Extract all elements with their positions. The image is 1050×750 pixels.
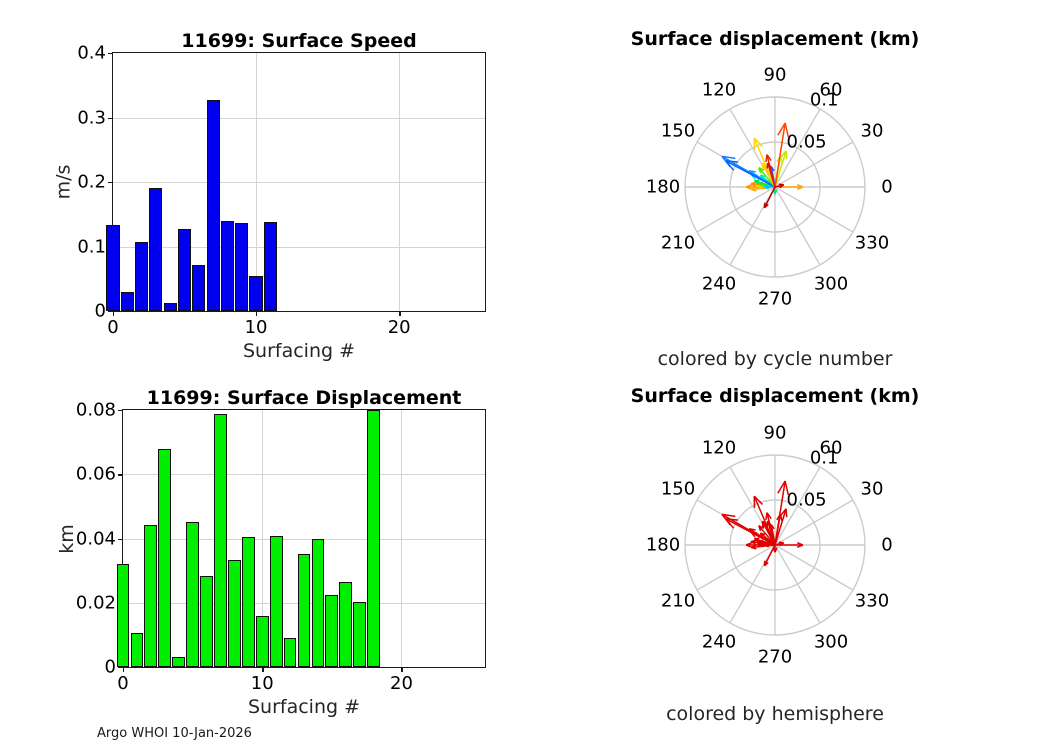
bar (121, 292, 134, 311)
gridline-horizontal (113, 182, 485, 183)
bar (149, 188, 162, 311)
bar (164, 303, 177, 311)
figure-footer-stamp: Argo WHOI 10-Jan-2026 (97, 726, 252, 741)
polar-radius-label: 0.1 (810, 90, 839, 111)
surface-displacement-plot-area: 00.020.040.060.0801020 (122, 409, 486, 668)
gridline-horizontal (123, 539, 485, 540)
bar (207, 100, 220, 311)
polar-cycle-caption: colored by cycle number (575, 348, 975, 370)
polar-hemisphere-title: Surface displacement (km) (575, 385, 975, 407)
surface-displacement-xlabel: Surfacing # (122, 696, 486, 718)
bar (235, 223, 248, 311)
surface-speed-ylabel: m/s (52, 165, 74, 200)
polar-radius-label: 0.05 (787, 131, 827, 152)
x-tick-label: 0 (107, 317, 118, 338)
bar (353, 602, 366, 667)
polar-radius-label: 0.1 (810, 448, 839, 469)
polar-angle-label: 90 (764, 423, 787, 444)
x-tick-mark (399, 311, 400, 316)
polar-angle-label: 0 (881, 535, 892, 556)
bar (312, 539, 325, 667)
polar-angle-label: 0 (881, 177, 892, 198)
x-tick-label: 0 (117, 673, 128, 694)
polar-angle-label: 90 (764, 65, 787, 86)
polar-angle-label: 270 (758, 647, 792, 668)
polar-angle-label: 180 (646, 535, 680, 556)
polar-angle-label: 180 (646, 177, 680, 198)
polar-spoke (775, 545, 820, 623)
y-tick-label: 0.3 (77, 107, 113, 128)
polar-angle-label: 330 (855, 233, 889, 254)
polar-cycle-plot-area: 03060901201501802102402703003300.050.1 (645, 62, 905, 312)
polar-hemisphere-plot-area: 03060901201501802102402703003300.050.1 (645, 420, 905, 670)
bar (172, 657, 185, 667)
bar (135, 242, 148, 311)
y-tick-label: 0.04 (76, 528, 123, 549)
bar (270, 536, 283, 667)
bar (158, 449, 171, 667)
bar (178, 229, 191, 311)
polar-angle-label: 30 (861, 121, 884, 142)
y-tick-label: 0.2 (77, 172, 113, 193)
bar (256, 616, 269, 667)
bar (214, 414, 227, 667)
x-tick-label: 20 (390, 673, 413, 694)
argo-float-diagnostic-figure: 11699: Surface Speed 00.10.20.30.401020 … (0, 0, 1050, 750)
x-tick-label: 10 (251, 673, 274, 694)
polar-grid-and-vectors (645, 62, 905, 312)
y-tick-label: 0.08 (76, 400, 123, 421)
x-tick-label: 20 (388, 317, 411, 338)
bar (117, 564, 130, 667)
bar (192, 265, 205, 311)
polar-angle-label: 150 (661, 121, 695, 142)
polar-angle-label: 240 (702, 273, 736, 294)
polar-angle-label: 240 (702, 631, 736, 652)
gridline-horizontal (113, 118, 485, 119)
polar-hemisphere-caption: colored by hemisphere (575, 703, 975, 725)
polar-grid-and-vectors (645, 420, 905, 670)
x-tick-mark (123, 667, 124, 672)
polar-angle-label: 150 (661, 479, 695, 500)
y-tick-label: 0.06 (76, 464, 123, 485)
polar-angle-label: 300 (814, 631, 848, 652)
x-tick-mark (262, 667, 263, 672)
bar (144, 525, 157, 667)
surface-displacement-ylabel: km (56, 524, 78, 554)
x-tick-mark (401, 667, 402, 672)
surface-speed-xlabel: Surfacing # (112, 340, 486, 362)
y-tick-label: 0.4 (77, 43, 113, 64)
surface-speed-title: 11699: Surface Speed (112, 30, 486, 52)
polar-spoke (775, 187, 853, 232)
bar (249, 276, 262, 311)
polar-angle-label: 330 (855, 591, 889, 612)
surface-displacement-title: 11699: Surface Displacement (122, 387, 486, 409)
gridline-horizontal (113, 247, 485, 248)
bar (298, 554, 311, 667)
polar-angle-label: 120 (702, 80, 736, 101)
x-tick-mark (113, 311, 114, 316)
bar (200, 576, 213, 667)
surface-speed-plot-area: 00.10.20.30.401020 (112, 52, 486, 312)
gridline-vertical (401, 410, 402, 667)
polar-cycle-title: Surface displacement (km) (575, 28, 975, 50)
gridline-horizontal (123, 474, 485, 475)
bar (186, 522, 199, 667)
polar-spoke (775, 545, 853, 590)
polar-angle-label: 300 (814, 273, 848, 294)
gridline-vertical (399, 53, 400, 311)
polar-spoke (775, 187, 820, 265)
bar (284, 638, 297, 667)
polar-spoke (697, 187, 775, 232)
bar (221, 221, 234, 311)
bar (367, 410, 380, 667)
polar-angle-label: 120 (702, 438, 736, 459)
bar (264, 222, 277, 311)
bar (228, 560, 241, 667)
x-tick-label: 10 (245, 317, 268, 338)
x-tick-mark (256, 311, 257, 316)
polar-spoke (697, 545, 775, 590)
polar-angle-label: 210 (661, 233, 695, 254)
polar-angle-label: 30 (861, 479, 884, 500)
bar (325, 595, 338, 667)
polar-angle-label: 210 (661, 591, 695, 612)
bar (242, 537, 255, 667)
gridline-vertical (256, 53, 257, 311)
bar (339, 582, 352, 667)
polar-radius-label: 0.05 (787, 489, 827, 510)
bar (131, 633, 144, 667)
polar-angle-label: 270 (758, 289, 792, 310)
bar (106, 225, 119, 311)
